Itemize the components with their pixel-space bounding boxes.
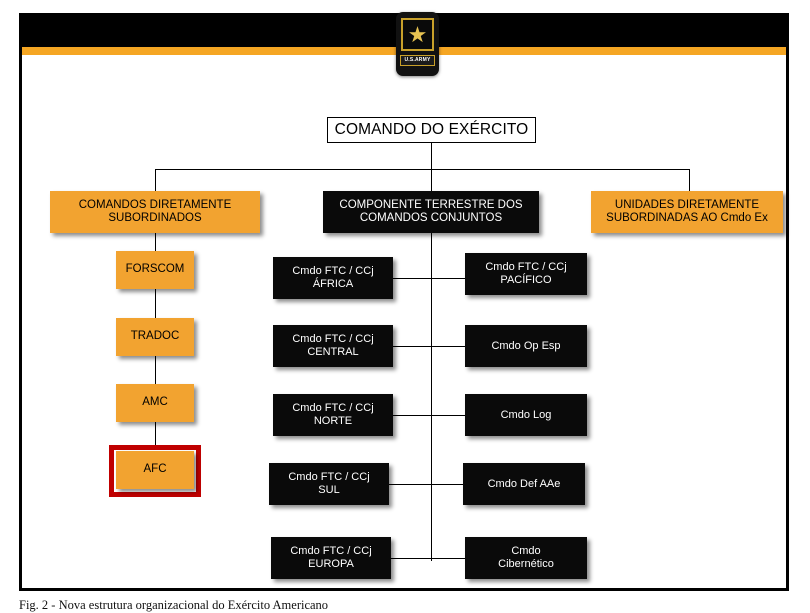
node-unidades-diretamente-subordinadas[interactable]: UNIDADES DIRETAMENTE SUBORDINADAS AO Cmd… xyxy=(591,191,783,233)
node-tradoc[interactable]: TRADOC xyxy=(116,318,194,356)
node-label: AFC xyxy=(144,463,167,476)
node-cmdo-ftc-ccj-central[interactable]: Cmdo FTC / CCj CENTRAL xyxy=(273,325,393,367)
connector-top-bus xyxy=(155,169,689,170)
node-cmdo-log[interactable]: Cmdo Log xyxy=(465,394,587,436)
node-forscom[interactable]: FORSCOM xyxy=(116,251,194,289)
army-wordmark: U.S.ARMY xyxy=(400,55,435,66)
connector-row-5 xyxy=(391,558,467,559)
node-cmdo-ftc-ccj-sul[interactable]: Cmdo FTC / CCj SUL xyxy=(269,463,389,505)
node-cmdo-ftc-ccj-europa[interactable]: Cmdo FTC / CCj EUROPA xyxy=(271,537,391,579)
node-cmdo-ftc-ccj-africa[interactable]: Cmdo FTC / CCj ÁFRICA xyxy=(273,257,393,299)
node-label: COMANDOS DIRETAMENTE SUBORDINADOS xyxy=(79,199,232,225)
army-star-icon: ★ xyxy=(401,18,434,51)
node-cmdo-cibernetico[interactable]: Cmdo Cibernético xyxy=(465,537,587,579)
star-glyph: ★ xyxy=(408,24,428,46)
node-label: Cmdo Log xyxy=(501,409,552,422)
connector-row-4 xyxy=(389,484,465,485)
node-comando-do-exercito[interactable]: COMANDO DO EXÉRCITO xyxy=(327,117,536,143)
node-label: Cmdo FTC / CCj EUROPA xyxy=(290,545,371,570)
node-label: Cmdo FTC / CCj CENTRAL xyxy=(292,333,373,358)
connector-drop-center xyxy=(431,169,432,191)
connector-root-stem xyxy=(431,143,432,169)
connector-drop-right xyxy=(689,169,690,191)
node-cmdo-ftc-ccj-pacifico[interactable]: Cmdo FTC / CCj PACÍFICO xyxy=(465,253,587,295)
node-label: Cmdo FTC / CCj ÁFRICA xyxy=(292,265,373,290)
node-comandos-diretamente-subordinados[interactable]: COMANDOS DIRETAMENTE SUBORDINADOS xyxy=(50,191,260,233)
node-label: COMPONENTE TERRESTRE DOS COMANDOS CONJUN… xyxy=(339,199,522,225)
connector-drop-left xyxy=(155,169,156,191)
node-label: FORSCOM xyxy=(126,263,185,276)
node-label: Cmdo FTC / CCj PACÍFICO xyxy=(485,261,566,286)
node-cmdo-def-aae[interactable]: Cmdo Def AAe xyxy=(463,463,585,505)
connector-row-2 xyxy=(393,346,468,347)
node-label: Cmdo Op Esp xyxy=(491,340,560,353)
node-label: Cmdo Def AAe xyxy=(488,478,561,491)
node-label: Cmdo FTC / CCj NORTE xyxy=(292,402,373,427)
node-label: UNIDADES DIRETAMENTE SUBORDINADAS AO Cmd… xyxy=(606,199,768,225)
node-label: Cmdo FTC / CCj SUL xyxy=(288,471,369,496)
figure-caption: Fig. 2 - Nova estrutura organizacional d… xyxy=(19,598,789,613)
node-afc[interactable]: AFC xyxy=(116,451,194,489)
node-amc[interactable]: AMC xyxy=(116,384,194,422)
node-componente-terrestre[interactable]: COMPONENTE TERRESTRE DOS COMANDOS CONJUN… xyxy=(323,191,539,233)
army-logo: ★ U.S.ARMY xyxy=(396,12,439,76)
node-label: AMC xyxy=(142,396,168,409)
node-cmdo-ftc-ccj-norte[interactable]: Cmdo FTC / CCj NORTE xyxy=(273,394,393,436)
node-label: Cmdo Cibernético xyxy=(498,545,554,570)
node-label: TRADOC xyxy=(131,330,180,343)
node-cmdo-op-esp[interactable]: Cmdo Op Esp xyxy=(465,325,587,367)
org-chart: COMANDO DO EXÉRCITO COMANDOS DIRETAMENTE… xyxy=(22,55,786,588)
connector-row-3 xyxy=(393,415,468,416)
connector-center-spine xyxy=(431,233,432,561)
figure-frame: ★ U.S.ARMY COMANDO DO EXÉRCITO COMANDOS … xyxy=(19,13,789,591)
node-label: COMANDO DO EXÉRCITO xyxy=(335,121,529,139)
